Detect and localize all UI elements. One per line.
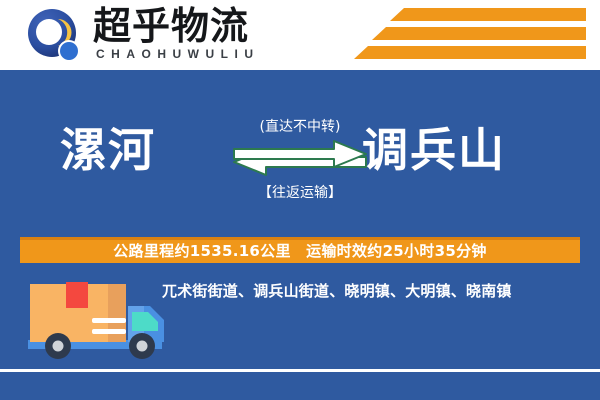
round-trip-note: 【往返运输】	[236, 182, 364, 202]
brand-name-cn: 超乎物流	[93, 6, 249, 46]
bottom-divider	[0, 369, 600, 372]
destination-city: 调兵山	[362, 120, 506, 180]
header-bar: 超乎物流 CHAOHUWULIU	[0, 0, 600, 70]
distance-and-duration-text: 公路里程约1535.16公里 运输时效约25小时35分钟	[113, 240, 486, 263]
decor-stripe-3	[354, 46, 586, 59]
origin-city: 漯河	[60, 120, 156, 180]
decor-stripe-1	[390, 8, 586, 21]
circle-crescent-logo-icon	[27, 8, 83, 64]
decor-stripe-2	[372, 27, 586, 40]
route-info-bar: 公路里程约1535.16公里 运输时效约25小时35分钟	[20, 237, 580, 263]
covered-districts-text: 兀术街街道、调兵山街道、晓明镇、大明镇、晓南镇	[162, 280, 586, 302]
brand-name-en: CHAOHUWULIU	[96, 47, 260, 61]
route-middle: (直达不中转) 【往返运输】	[236, 108, 364, 208]
delivery-truck-icon	[22, 278, 178, 364]
logistics-route-poster: 超乎物流 CHAOHUWULIU 漯河 (直达不中转) 【往返运输】 调兵山 公…	[0, 0, 600, 400]
double-headed-arrow-icon	[232, 138, 368, 178]
route-row: 漯河 (直达不中转) 【往返运输】 调兵山	[0, 108, 600, 208]
direct-shipping-note: (直达不中转)	[236, 116, 364, 136]
